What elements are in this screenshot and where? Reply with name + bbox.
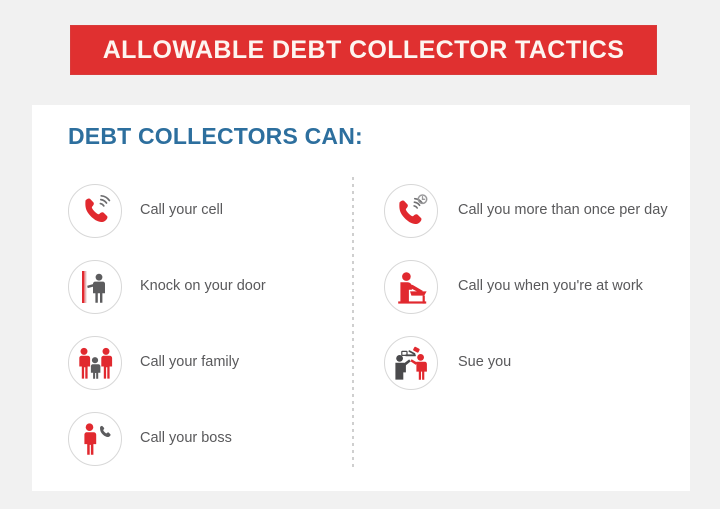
column-divider	[352, 177, 354, 469]
list-item: Knock on your door	[68, 249, 348, 325]
list-item-label: Call your family	[140, 353, 239, 373]
list-item-label: Knock on your door	[140, 277, 266, 297]
right-column: Call you more than once per day C	[384, 173, 684, 401]
person-knocking-door-icon	[68, 260, 122, 314]
list-item: Call your boss	[68, 401, 348, 477]
page-title: ALLOWABLE DEBT COLLECTOR TACTICS	[103, 38, 625, 63]
list-item-label: Call you more than once per day	[458, 201, 668, 221]
title-banner: ALLOWABLE DEBT COLLECTOR TACTICS	[70, 25, 657, 75]
infographic-canvas: ALLOWABLE DEBT COLLECTOR TACTICS DEBT CO…	[0, 0, 720, 509]
person-at-desk-icon	[384, 260, 438, 314]
person-with-phone-icon	[68, 412, 122, 466]
list-item: Call you more than once per day	[384, 173, 684, 249]
items-columns: Call your cell Knock on your door	[32, 173, 690, 483]
family-group-icon	[68, 336, 122, 390]
list-item: Call your cell	[68, 173, 348, 249]
list-item: Call you when you're at work	[384, 249, 684, 325]
content-card: DEBT COLLECTORS CAN: Call your cell	[32, 105, 690, 491]
list-item-label: Call your cell	[140, 201, 223, 221]
list-item: Sue you	[384, 325, 684, 401]
list-item-label: Sue you	[458, 353, 511, 373]
left-column: Call your cell Knock on your door	[68, 173, 348, 477]
phone-clock-icon	[384, 184, 438, 238]
list-item: Call your family	[68, 325, 348, 401]
gavel-lawsuit-icon	[384, 336, 438, 390]
phone-call-icon	[68, 184, 122, 238]
section-heading: DEBT COLLECTORS CAN:	[68, 123, 363, 150]
list-item-label: Call your boss	[140, 429, 232, 449]
list-item-label: Call you when you're at work	[458, 277, 643, 297]
